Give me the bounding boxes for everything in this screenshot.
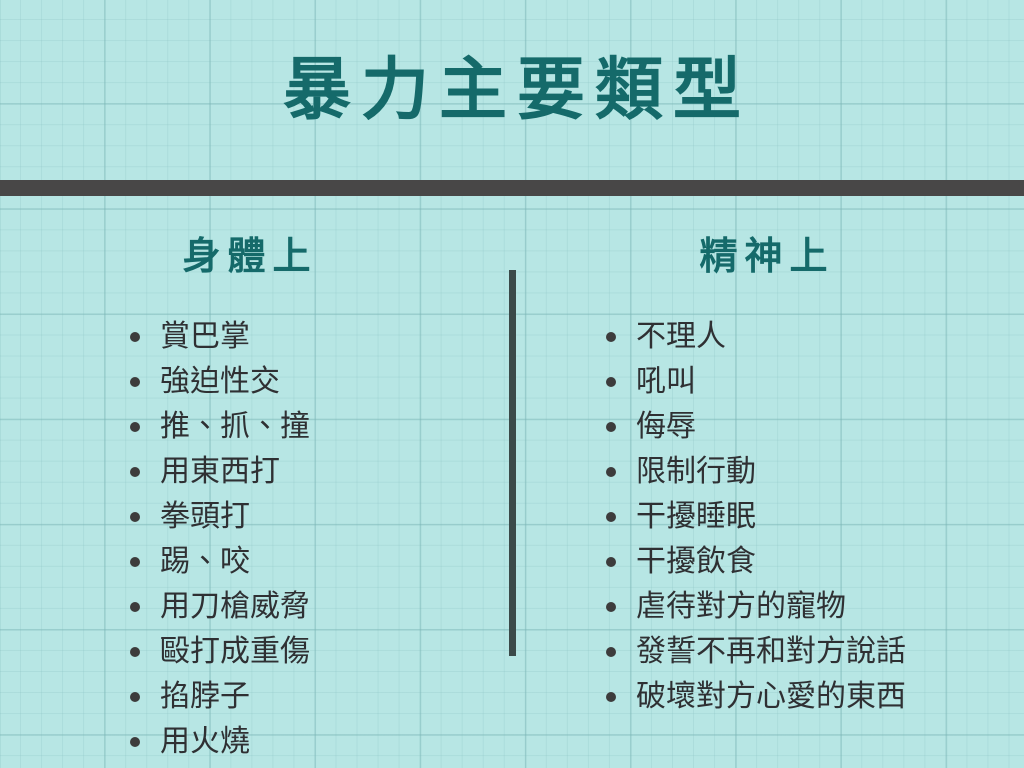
list-item: 虐待對方的寵物 [606,584,1024,629]
bullet-dot-icon [130,332,140,342]
horizontal-rule [0,180,1024,196]
column-mental-list: 不理人 吼叫 侮辱 限制行動 干擾睡眠 [513,314,1024,719]
list-item: 吼叫 [606,359,1024,404]
list-item: 不理人 [606,314,1024,359]
bullet-dot-icon [130,422,140,432]
list-item: 破壞對方心愛的東西 [606,674,1024,719]
bullet-dot-icon [606,512,616,522]
column-physical-list: 賞巴掌 強迫性交 推、抓、撞 用東西打 拳頭打 [0,314,511,764]
bullet-dot-icon [130,692,140,702]
list-item: 賞巴掌 [130,314,511,359]
slide-canvas: 暴力主要類型 身體上 賞巴掌 強迫性交 推、抓、撞 [0,0,1024,768]
bullet-dot-icon [130,512,140,522]
list-item-label: 發誓不再和對方說話 [636,635,906,668]
list-item-label: 強迫性交 [160,365,280,398]
column-mental-header: 精神上 [513,238,1024,276]
list-item-label: 限制行動 [636,455,756,488]
list-item-label: 吼叫 [636,365,696,398]
list-item: 干擾睡眠 [606,494,1024,539]
list-item-label: 干擾飲食 [636,545,756,578]
list-item: 推、抓、撞 [130,404,511,449]
list-item-label: 毆打成重傷 [160,635,310,668]
column-separator [509,270,516,656]
column-mental: 精神上 不理人 吼叫 侮辱 限制行動 [513,196,1024,719]
column-physical-header: 身體上 [0,238,511,276]
bullet-dot-icon [606,647,616,657]
list-item-label: 踢、咬 [160,545,250,578]
column-physical: 身體上 賞巴掌 強迫性交 推、抓、撞 用東西打 [0,196,511,764]
list-item: 毆打成重傷 [130,629,511,674]
list-item-label: 推、抓、撞 [160,410,310,443]
list-item-label: 干擾睡眠 [636,500,756,533]
list-item-label: 掐脖子 [160,680,250,713]
bullet-dot-icon [130,647,140,657]
list-item: 用東西打 [130,449,511,494]
bullet-dot-icon [606,332,616,342]
bullet-dot-icon [130,737,140,747]
bullet-dot-icon [130,557,140,567]
list-item-label: 賞巴掌 [160,320,250,353]
list-item: 干擾飲食 [606,539,1024,584]
list-item-label: 用刀槍威脅 [160,590,310,623]
bullet-dot-icon [606,422,616,432]
list-item-label: 拳頭打 [160,500,250,533]
title-area: 暴力主要類型 [0,0,1024,180]
list-item-label: 破壞對方心愛的東西 [636,680,906,713]
bullet-dot-icon [606,377,616,387]
list-item: 拳頭打 [130,494,511,539]
list-item-label: 用火燒 [160,725,250,758]
list-item: 踢、咬 [130,539,511,584]
list-item: 用刀槍威脅 [130,584,511,629]
list-item: 發誓不再和對方說話 [606,629,1024,674]
bullet-dot-icon [606,467,616,477]
list-item-label: 用東西打 [160,455,280,488]
bullet-dot-icon [606,602,616,612]
list-item-label: 侮辱 [636,410,696,443]
list-item-label: 不理人 [636,320,726,353]
bullet-dot-icon [606,557,616,567]
list-item: 限制行動 [606,449,1024,494]
list-item: 掐脖子 [130,674,511,719]
bullet-dot-icon [130,602,140,612]
list-item: 強迫性交 [130,359,511,404]
list-item-label: 虐待對方的寵物 [636,590,846,623]
bullet-dot-icon [130,377,140,387]
bullet-dot-icon [130,467,140,477]
bullet-dot-icon [606,692,616,702]
page-title: 暴力主要類型 [273,56,751,124]
list-item: 用火燒 [130,719,511,764]
list-item: 侮辱 [606,404,1024,449]
